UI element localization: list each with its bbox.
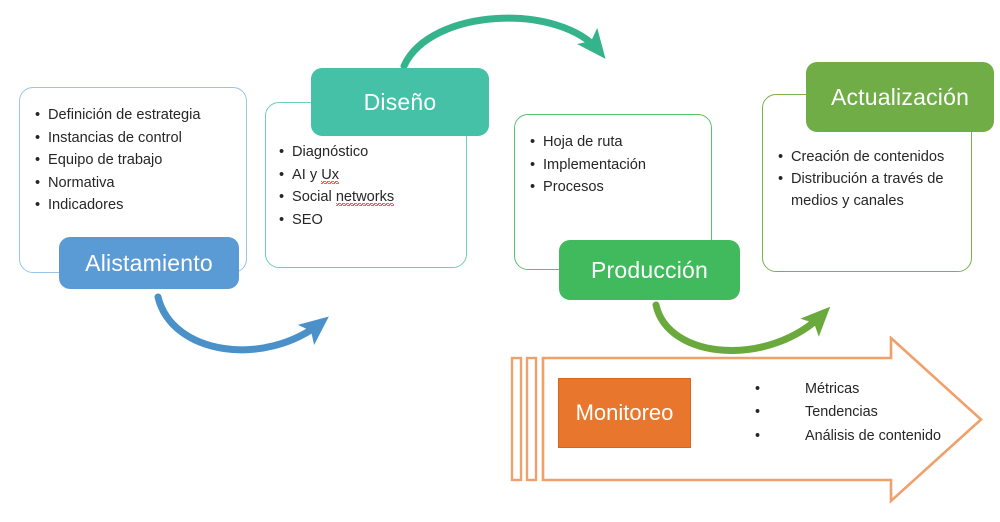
phase-title-label: Actualización — [831, 84, 969, 111]
list-item: Implementación — [530, 154, 711, 177]
arrow-alistamiento-to-diseno — [158, 297, 322, 350]
phase-title-diseno[interactable]: Diseño — [311, 68, 489, 136]
chevron-tail-bar-2 — [527, 358, 536, 480]
list-item: Creación de contenidos — [778, 147, 971, 169]
list-item: Hoja de ruta — [530, 131, 711, 154]
spellcheck-word: networks — [336, 189, 394, 208]
list-item: Distribución a través de medios y canale… — [778, 169, 971, 213]
phase-title-actualizacion[interactable]: Actualización — [806, 62, 994, 132]
monitoreo-title-label: Monitoreo — [576, 400, 674, 426]
list-item: Diagnóstico — [279, 141, 466, 164]
spellcheck-word: Ux — [321, 167, 339, 186]
phase-item-list: Hoja de ruta Implementación Procesos — [515, 115, 711, 199]
arrow-diseno-to-produccion — [404, 18, 600, 66]
list-item: Procesos — [530, 176, 711, 199]
phase-title-produccion[interactable]: Producción — [559, 240, 740, 300]
phase-title-label: Producción — [591, 257, 708, 284]
list-item: SEO — [279, 209, 466, 232]
phase-title-alistamiento[interactable]: Alistamiento — [59, 237, 239, 289]
list-item: Definición de estrategia — [35, 104, 246, 127]
phase-item-list: Definición de estrategia Instancias de c… — [20, 88, 246, 217]
monitoreo-item-list: Métricas Tendencias Análisis de contenid… — [755, 378, 985, 448]
list-item: Social networks — [279, 186, 466, 209]
phase-title-label: Alistamiento — [85, 250, 213, 277]
list-item: Tendencias — [755, 401, 985, 424]
monitoreo-title-box[interactable]: Monitoreo — [558, 378, 691, 448]
phase-title-label: Diseño — [364, 89, 437, 116]
diagram-canvas: Definición de estrategia Instancias de c… — [0, 0, 1000, 522]
list-item: Normativa — [35, 172, 246, 195]
list-item: Análisis de contenido — [755, 425, 985, 448]
chevron-tail-bar-1 — [512, 358, 521, 480]
list-item: Indicadores — [35, 194, 246, 217]
monitoreo-block[interactable]: Monitoreo Métricas Tendencias Análisis d… — [510, 336, 990, 522]
list-item: Métricas — [755, 378, 985, 401]
list-item: Instancias de control — [35, 127, 246, 150]
list-item: Equipo de trabajo — [35, 149, 246, 172]
list-item: AI y Ux — [279, 164, 466, 187]
